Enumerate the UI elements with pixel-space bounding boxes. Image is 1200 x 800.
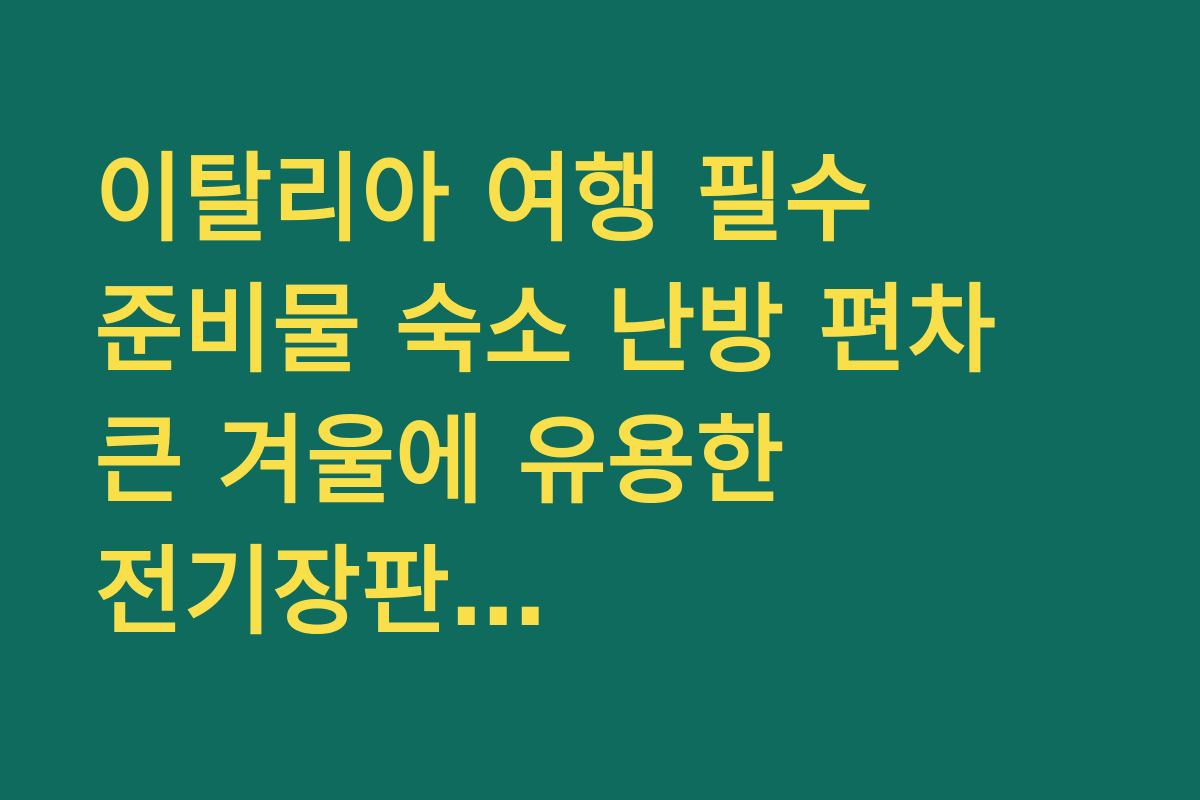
title-block: 이탈리아 여행 필수 준비물 숙소 난방 편차 큰 겨울에 유용한 전기장판…	[0, 134, 1200, 658]
card-title: 이탈리아 여행 필수 준비물 숙소 난방 편차 큰 겨울에 유용한 전기장판…	[95, 134, 1110, 658]
thumbnail-card: 이탈리아 여행 필수 준비물 숙소 난방 편차 큰 겨울에 유용한 전기장판…	[0, 0, 1200, 800]
